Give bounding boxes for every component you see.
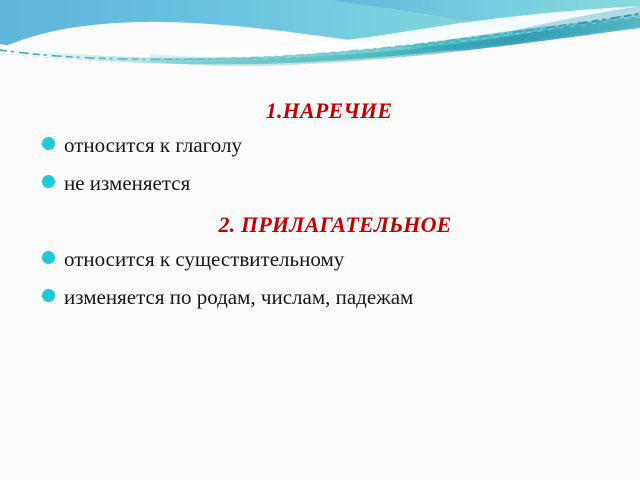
- bullet-text: относится к существительному: [64, 244, 344, 274]
- section-heading-1: 1.НАРЕЧИЕ: [0, 96, 640, 126]
- banner-dashed-thread: [0, 14, 640, 59]
- banner-wave-base: [0, 0, 640, 51]
- bullet-list-1: относится к глаголу не изменяется: [0, 126, 640, 202]
- banner-dashed-thread-secondary: [0, 17, 640, 61]
- banner-wave-upper-right: [330, 0, 640, 64]
- list-item: изменяется по родам, числам, падежам: [0, 278, 640, 316]
- section-spacer: [0, 202, 640, 210]
- bullet-dot-icon: [42, 137, 55, 150]
- banner-white-swoosh: [0, 4, 640, 62]
- list-item: не изменяется: [0, 164, 640, 202]
- bullet-text: относится к глаголу: [64, 130, 242, 160]
- slide-content: 1.НАРЕЧИЕ относится к глаголу не изменяе…: [0, 96, 640, 316]
- bullet-text: не изменяется: [64, 168, 190, 198]
- banner-corner-accent: [500, 6, 640, 34]
- banner-dark-ribbon: [150, 12, 640, 66]
- section-heading-2: 2. ПРИЛАГАТЕЛЬНОЕ: [0, 210, 640, 240]
- list-item: относится к глаголу: [0, 126, 640, 164]
- bullet-dot-icon: [42, 175, 55, 188]
- banner-teal-ribbon: [0, 16, 640, 64]
- bullet-dot-icon: [42, 289, 55, 302]
- slide-canvas: 1.НАРЕЧИЕ относится к глаголу не изменяе…: [0, 0, 640, 480]
- bullet-list-2: относится к существительному изменяется …: [0, 240, 640, 316]
- list-item: относится к существительному: [0, 240, 640, 278]
- decorative-wave-banner: [0, 0, 640, 66]
- bullet-text: изменяется по родам, числам, падежам: [64, 282, 413, 312]
- banner-bottom-mask: [0, 28, 640, 66]
- bullet-dot-icon: [42, 251, 55, 264]
